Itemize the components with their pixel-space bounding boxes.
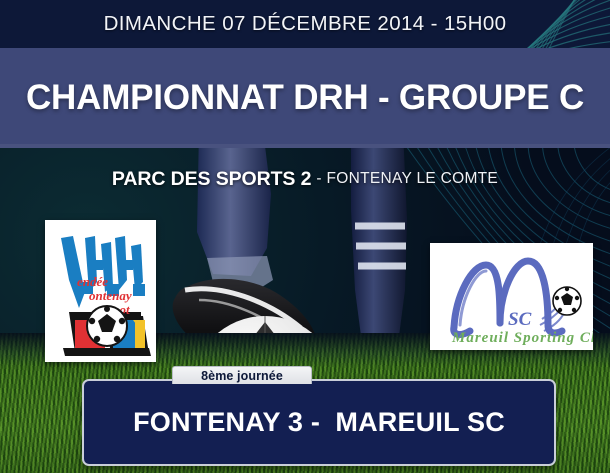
vff-line2: ontenay <box>89 288 132 303</box>
away-team-logo-card: SC Mareuil Sporting Club <box>430 243 593 350</box>
date-banner-text: DIMANCHE 07 DÉCEMBRE 2014 - 15H00 <box>0 0 610 48</box>
venue-line: PARC DES SPORTS 2 - FONTENAY LE COMTE <box>0 164 610 194</box>
msc-caption: Mareuil Sporting Club <box>451 330 593 346</box>
matchday-tab: 8ème journée <box>172 366 312 384</box>
fixture-panel: FONTENAY 3 - MAREUIL SC <box>82 379 556 466</box>
competition-banner-text: CHAMPIONNAT DRH - GROUPE C <box>0 48 610 148</box>
mareuil-sc-crest-icon: SC Mareuil Sporting Club <box>430 243 593 350</box>
vff-line1: endée <box>77 274 108 289</box>
venue-name: PARC DES SPORTS 2 <box>112 168 311 191</box>
match-poster: DIMANCHE 07 DÉCEMBRE 2014 - 15H00 CHAMPI… <box>0 0 610 473</box>
matchday-label: 8ème journée <box>201 369 283 383</box>
fixture-text: FONTENAY 3 - MAREUIL SC <box>133 407 505 438</box>
venue-city: - FONTENAY LE COMTE <box>316 170 498 188</box>
msc-suffix: SC <box>508 309 532 330</box>
vff-crest-icon: endée ontenay oot <box>45 220 156 362</box>
home-team-logo-card: endée ontenay oot <box>45 220 156 362</box>
